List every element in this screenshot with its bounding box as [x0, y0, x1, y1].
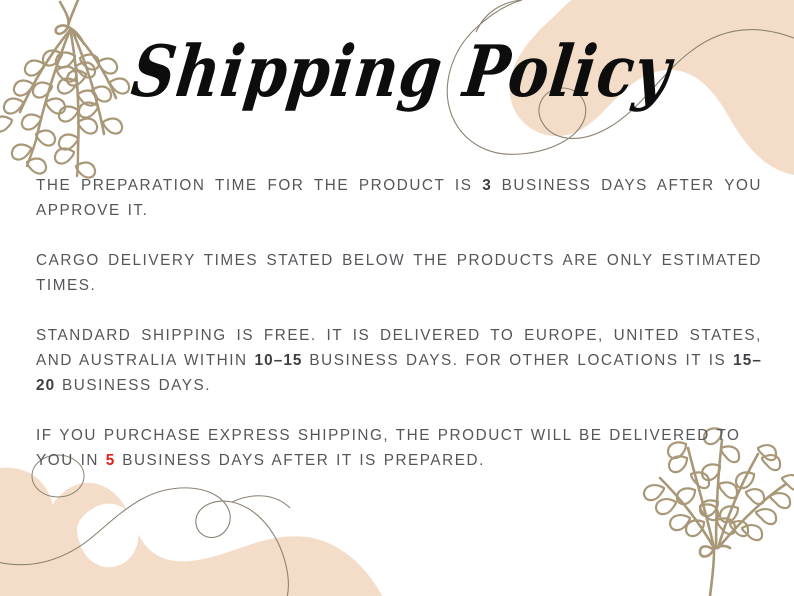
peach-blob-bottom-left-icon — [0, 468, 390, 596]
page-title: Shipping Policy — [128, 37, 675, 108]
text-cargo-delivery-estimate-0: Cargo delivery times stated below the pr… — [36, 252, 762, 294]
paragraph-cargo-delivery-estimate: Cargo delivery times stated below the pr… — [36, 248, 762, 298]
text-express-shipping-2: business days after it is prepared. — [115, 452, 485, 469]
emphasis-express-shipping-1: 5 — [106, 452, 116, 469]
emphasis-standard-shipping-1: 10–15 — [255, 352, 303, 369]
paragraph-standard-shipping: Standard shipping is free. It is deliver… — [36, 323, 762, 398]
emphasis-preparation-time-1: 3 — [482, 177, 492, 194]
swirl-line-bottom-left-icon — [0, 488, 290, 596]
text-standard-shipping-4: business days. — [55, 377, 211, 394]
shipping-policy-card: Shipping Policy The preparation time for… — [0, 0, 794, 596]
paragraph-express-shipping: If you purchase express shipping, the pr… — [36, 423, 762, 473]
policy-body: The preparation time for the product is … — [36, 173, 762, 473]
page-title-container: Shipping Policy — [0, 48, 794, 108]
text-preparation-time-0: The preparation time for the product is — [36, 177, 482, 194]
text-standard-shipping-2: business days. For other locations it is — [303, 352, 734, 369]
paragraph-preparation-time: The preparation time for the product is … — [36, 173, 762, 223]
